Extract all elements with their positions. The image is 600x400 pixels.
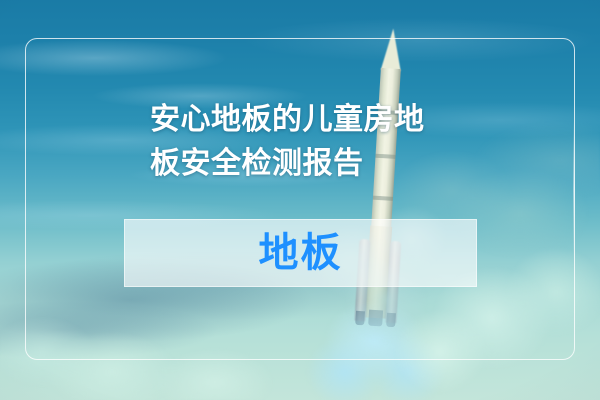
keyword-panel: 地板 <box>124 219 477 287</box>
banner-title: 安心地板的儿童房地板安全检测报告 <box>150 98 450 186</box>
banner-image: 安心地板的儿童房地板安全检测报告 地板 <box>0 0 600 400</box>
keyword-label: 地板 <box>259 233 343 273</box>
vignette <box>0 0 600 400</box>
